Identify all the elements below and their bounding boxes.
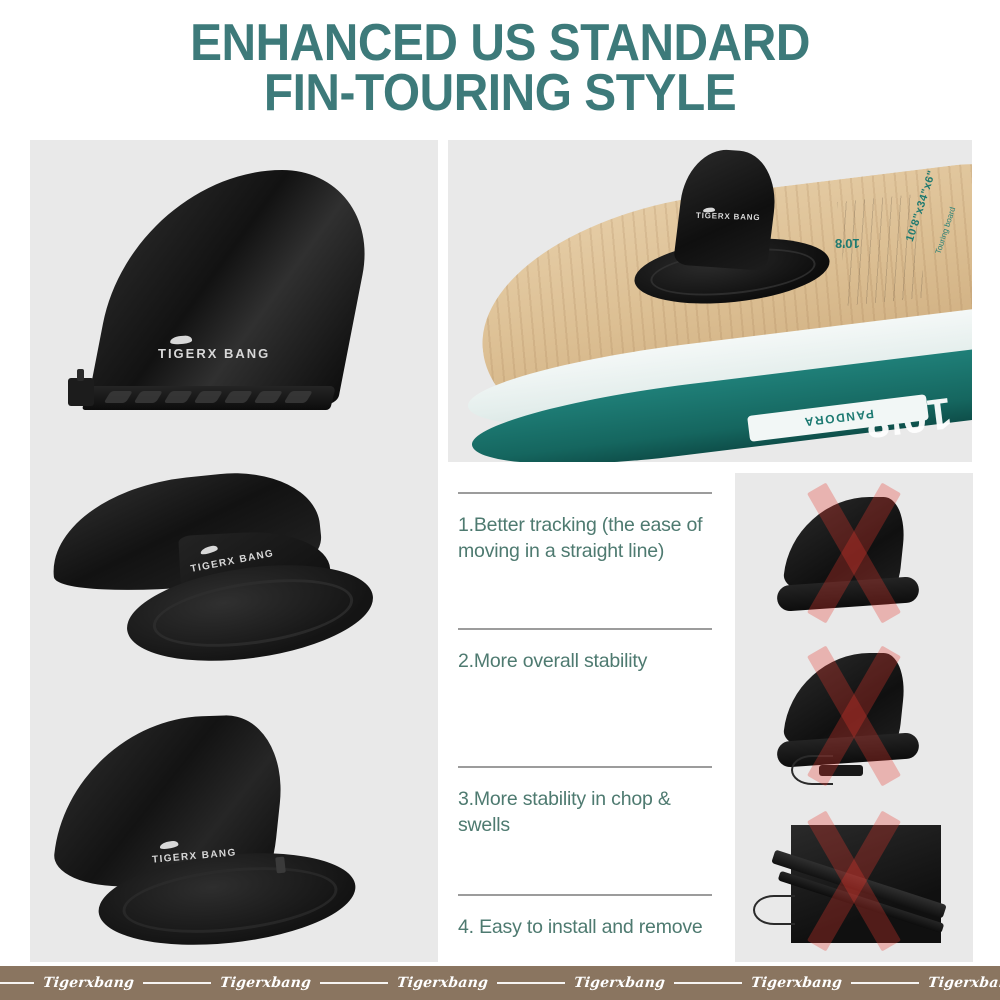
dash-divider bbox=[531, 982, 565, 984]
x-mark-icon bbox=[779, 806, 929, 956]
fin-profile-photo: TIGERX BANG bbox=[30, 140, 438, 440]
x-mark-icon bbox=[779, 641, 929, 791]
fin-bolt bbox=[275, 857, 286, 874]
feature-list: 1.Better tracking (the ease of moving in… bbox=[458, 472, 714, 962]
dash-divider bbox=[497, 982, 531, 984]
feature-text: 2.More overall stability bbox=[458, 648, 712, 674]
incompatible-fin-item bbox=[735, 799, 973, 962]
fin-screw bbox=[68, 378, 94, 406]
page-title: ENHANCED US STANDARD FIN-TOURING STYLE bbox=[0, 18, 1000, 118]
fin-angled-photo: TIGERX BANG bbox=[30, 460, 438, 670]
brand-name: Tigerxbang bbox=[573, 975, 666, 991]
dash-divider bbox=[674, 982, 708, 984]
feature-item: 2.More overall stability bbox=[458, 628, 712, 674]
brand-name: Tigerxbang bbox=[396, 975, 489, 991]
dash-divider bbox=[0, 982, 34, 984]
divider bbox=[458, 628, 712, 630]
feature-text: 1.Better tracking (the ease of moving in… bbox=[458, 512, 712, 564]
title-line-1: ENHANCED US STANDARD bbox=[40, 18, 960, 68]
sup-board-photo: 10'8"x34"x6" Touring board 10'8 10'8 PAN… bbox=[448, 140, 972, 462]
divider bbox=[458, 766, 712, 768]
brand-unit: Tigerxbang bbox=[0, 975, 177, 991]
footer-brand-strip: Tigerxbang Tigerxbang Tigerxbang Tigerxb… bbox=[0, 966, 1000, 1000]
dash-divider bbox=[708, 982, 742, 984]
dash-divider bbox=[354, 982, 388, 984]
brand-unit: Tigerxbang bbox=[354, 975, 531, 991]
brand-unit: Tigerxbang bbox=[531, 975, 708, 991]
feature-item: 4. Easy to install and remove bbox=[458, 894, 712, 940]
divider bbox=[458, 894, 712, 896]
dash-divider bbox=[143, 982, 177, 984]
installed-fin bbox=[673, 147, 781, 271]
brand-unit: Tigerxbang bbox=[708, 975, 885, 991]
dash-divider bbox=[177, 982, 211, 984]
brand-name: Tigerxbang bbox=[42, 975, 135, 991]
incompatible-fin-item bbox=[735, 635, 973, 797]
brand-name: Tigerxbang bbox=[927, 975, 1000, 991]
fin-base-rail bbox=[82, 386, 336, 410]
dash-divider bbox=[885, 982, 919, 984]
brand-unit: Tigerxbang bbox=[885, 975, 1000, 991]
x-mark-icon bbox=[779, 478, 929, 628]
fin-photo-panel: TIGERX BANG TIGERX BANG TIGERX BANG bbox=[30, 140, 438, 962]
brand-name: Tigerxbang bbox=[219, 975, 312, 991]
brand-unit: Tigerxbang bbox=[177, 975, 354, 991]
brand-name: Tigerxbang bbox=[750, 975, 843, 991]
feature-item: 3.More stability in chop & swells bbox=[458, 766, 712, 838]
title-line-2: FIN-TOURING STYLE bbox=[40, 68, 960, 118]
feature-text: 4. Easy to install and remove bbox=[458, 914, 712, 940]
dash-divider bbox=[320, 982, 354, 984]
incompatible-fins-panel bbox=[735, 473, 973, 962]
product-infographic: ENHANCED US STANDARD FIN-TOURING STYLE T… bbox=[0, 0, 1000, 1000]
divider bbox=[458, 492, 712, 494]
board-photo-panel: 10'8"x34"x6" Touring board 10'8 10'8 PAN… bbox=[448, 140, 972, 462]
dash-divider bbox=[851, 982, 885, 984]
fin-standing-photo: TIGERX BANG bbox=[30, 705, 438, 962]
board-brand-text: PANDORA bbox=[802, 407, 874, 430]
board-model-number: 10'8 bbox=[835, 236, 860, 251]
feature-item: 1.Better tracking (the ease of moving in… bbox=[458, 492, 712, 564]
feature-text: 3.More stability in chop & swells bbox=[458, 786, 712, 838]
fin-logo-text: TIGERX BANG bbox=[158, 346, 270, 361]
incompatible-fin-item bbox=[735, 473, 973, 633]
fin-blade bbox=[87, 170, 383, 405]
